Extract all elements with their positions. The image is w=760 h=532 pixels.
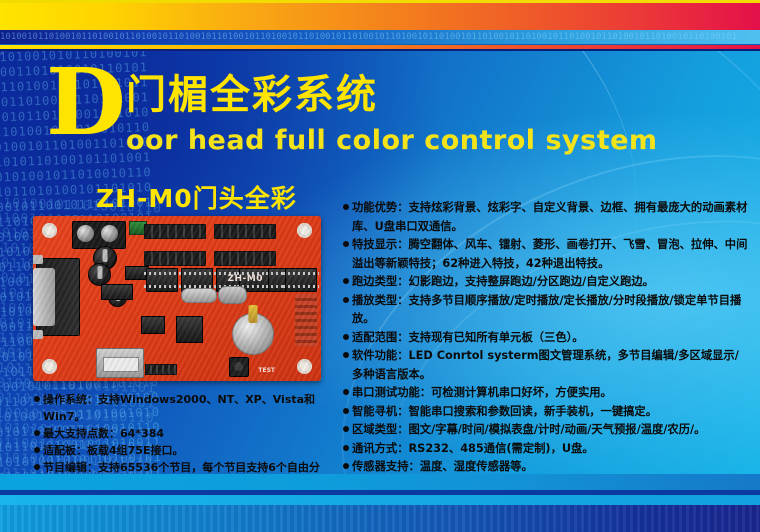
solder-pad-array [295,294,317,346]
bullet-dot-icon [343,463,349,469]
bullet-dot-icon [343,352,349,358]
mount-hole-top-right [297,223,312,238]
right-bullet-text: 跑边类型：幻影跑边，支持整屏跑边/分区跑边/自定义跑边。 [352,273,748,292]
dip-chip [101,284,133,300]
pin-header-a [144,224,206,239]
bullet-dot-icon [343,408,349,414]
list-item: 软件功能：LED Conrtol systerm图文管理系统，多节目编辑/多区域… [343,347,748,384]
crystal-oscillator-1 [181,288,217,303]
terminal-screw-1 [77,225,94,242]
right-bullet-text: 通讯方式：RS232、485通信(需定制)，U盘。 [352,440,748,459]
pin-header-b [214,224,276,239]
right-bullet-text: 特技显示：腾空翻体、风车、镭射、菱形、画卷打开、飞雪、冒泡、拉伸、中间溢出等新颖… [352,236,748,273]
bottom-decoration [0,474,760,532]
coin-cell-battery [232,313,274,355]
mcu-chip [176,316,203,343]
bullet-dot-icon [34,447,40,453]
left-bullet-text: 节目编辑：支持65536个节目，每个节目支持6个自由分区。 [43,459,334,474]
left-bullet-text: 适配板：板载4组75E接口。 [43,442,334,459]
mount-hole-top-left [42,223,57,238]
terminal-screw-2 [101,225,118,242]
list-item: 适配板：板载4组75E接口。 [34,442,334,459]
right-bullet-text: 适配范围：支持现有已知所有单元板（三色）。 [352,329,748,348]
bullet-dot-icon [34,396,40,402]
bottom-band-1 [0,474,760,490]
bullet-dot-icon [343,297,349,303]
bullet-dot-icon [343,204,349,210]
mount-hole-bottom-left [42,359,57,374]
list-item: 适配范围：支持现有已知所有单元板（三色）。 [343,329,748,348]
left-bullet-text: 操作系统：支持Windows2000、NT、XP、Vista和Win7。 [43,391,334,425]
bullet-dot-icon [343,334,349,340]
binary-texture-strip: 1010010110100101101001011010010110100101… [0,30,760,44]
top-gradient-bar [0,3,760,30]
bottom-band-3 [0,495,760,505]
pin-header-c [144,251,206,266]
power-terminal-block [72,221,126,249]
soic-chip [141,316,165,334]
pcb-model-silkscreen: ZH-M0 [227,274,263,284]
list-item: 传感器支持：温度、湿度传感器等。 [343,458,748,474]
pcb-test-silkscreen: TEST [258,367,275,374]
right-bullet-text: 串口测试功能：可检测计算机串口好坏，方便实用。 [352,384,748,403]
list-item: 区域类型：图文/字幕/时间/模拟表盘/计时/动画/天气预报/温度/农历/。 [343,421,748,440]
list-item: 跑边类型：幻影跑边，支持整屏跑边/分区跑边/自定义跑边。 [343,273,748,292]
product-board-image: ZH-M0 TEST [33,216,321,381]
list-item: 通讯方式：RS232、485通信(需定制)，U盘。 [343,440,748,459]
bullet-dot-icon [343,241,349,247]
poster-canvas: 1010010110100101101001011010010110100101… [0,0,760,532]
bullet-dot-icon [34,430,40,436]
list-item: 最大支持点数：64*384 [34,425,334,442]
db9-serial-connector [36,258,80,336]
list-item: 操作系统：支持Windows2000、NT、XP、Vista和Win7。 [34,391,334,425]
db9-tab-bottom [33,330,43,339]
drop-cap-letter: D [46,58,126,146]
bullet-dot-icon [343,389,349,395]
crystal-oscillator-2 [218,286,247,304]
test-button [229,357,249,377]
pin-header-d [214,251,276,266]
battery-clip [249,305,258,323]
list-item: 功能优势：支持炫彩背景、炫彩字、自定义背景、边框、拥有最庞大的动画素材库、U盘串… [343,199,748,236]
driver-ic-1 [146,268,178,292]
top-blue-strip: 1010010110100101101001011010010110100101… [0,30,760,44]
page-title-chinese: 门楣全彩系统 [126,72,378,118]
product-model-title: ZH-M0门头全彩 [96,185,297,213]
bullet-dot-icon [343,278,349,284]
list-item: 智能寻机：智能串口搜索和参数回读，新手装机，一键搞定。 [343,403,748,422]
main-background-field: 10101001010110100101 0100110101001011010… [0,51,760,474]
right-bullet-text: 传感器支持：温度、湿度传感器等。 [352,458,748,474]
bullet-dot-icon [343,445,349,451]
usb-port [96,348,144,378]
db9-tab-top [33,255,43,264]
right-bullet-text: 功能优势：支持炫彩背景、炫彩字、自定义背景、边框、拥有最庞大的动画素材库、U盘串… [352,199,748,236]
list-item: 串口测试功能：可检测计算机串口好坏，方便实用。 [343,384,748,403]
left-feature-list: 操作系统：支持Windows2000、NT、XP、Vista和Win7。 最大支… [34,391,334,474]
list-item: 播放类型：支持多节目顺序播放/定时播放/定长播放/分时段播放/锁定单节目播放。 [343,292,748,329]
capacitor-2 [88,263,111,286]
bottom-band-4 [0,505,760,532]
right-bullet-text: 播放类型：支持多节目顺序播放/定时播放/定长播放/分时段播放/锁定单节目播放。 [352,292,748,329]
db9-shell [33,268,55,326]
mount-hole-bottom-right [297,359,312,374]
right-feature-list: 功能优势：支持炫彩背景、炫彩字、自定义背景、边框、拥有最庞大的动画素材库、U盘串… [343,199,748,474]
page-title-english: oor head full color control system [126,126,658,156]
bullet-dot-icon [34,464,40,470]
bullet-dot-icon [343,426,349,432]
driver-ic-6 [285,268,317,292]
pcb-substrate: ZH-M0 TEST [33,216,321,381]
list-item: 特技显示：腾空翻体、风车、镭射、菱形、画卷打开、飞雪、冒泡、拉伸、中间溢出等新颖… [343,236,748,273]
list-item: 节目编辑：支持65536个节目，每个节目支持6个自由分区。 [34,459,334,474]
small-pin-header [145,364,177,375]
right-bullet-text: 区域类型：图文/字幕/时间/模拟表盘/计时/动画/天气预报/温度/农历/。 [352,421,748,440]
right-bullet-text: 智能寻机：智能串口搜索和参数回读，新手装机，一键搞定。 [352,403,748,422]
right-bullet-text: 软件功能：LED Conrtol systerm图文管理系统，多节目编辑/多区域… [352,347,748,384]
left-bullet-text: 最大支持点数：64*384 [43,425,334,442]
